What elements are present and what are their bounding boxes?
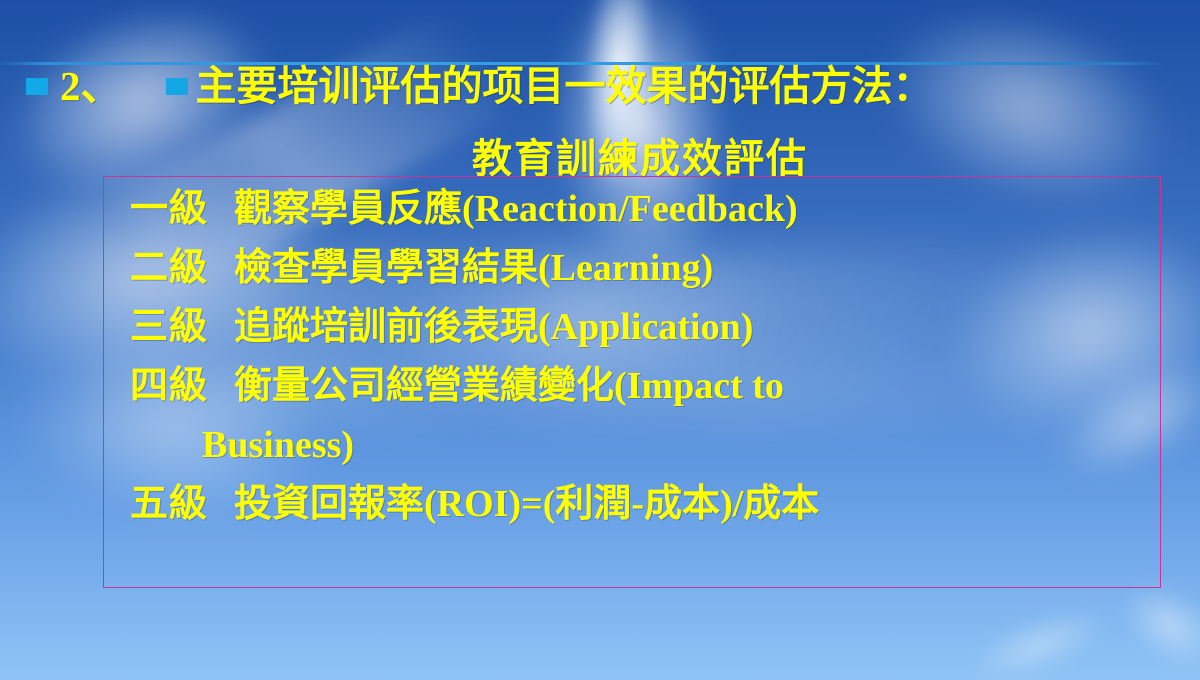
page-title: 2、 主要培训评估的项目一效果的评估方法：: [26, 66, 934, 107]
list-item: 五級投資回報率(ROI)=(利潤-成本)/成本: [130, 475, 1160, 534]
title-heading: 主要培训评估的项目一效果的评估方法：: [196, 66, 934, 107]
square-bullet-icon: [166, 78, 188, 95]
list-item: 一級觀察學員反應(Reaction/Feedback): [130, 180, 1160, 239]
evaluation-level-list: 一級觀察學員反應(Reaction/Feedback) 二級檢查學員學習結果(L…: [130, 180, 1160, 534]
slide-canvas: 2、 主要培训评估的项目一效果的评估方法： 教育訓練成效評估 一級觀察學員反應(…: [0, 0, 1200, 680]
level-description: 追蹤培訓前後表現(Application): [234, 306, 753, 348]
list-item-continuation: Business): [130, 416, 1160, 475]
level-description: 觀察學員反應(Reaction/Feedback): [234, 188, 798, 230]
level-description: 衡量公司經營業績變化(Impact to: [234, 365, 784, 407]
list-item: 三級追蹤培訓前後表現(Application): [130, 298, 1160, 357]
list-item: 二級檢查學員學習結果(Learning): [130, 239, 1160, 298]
list-item: 四級衡量公司經營業績變化(Impact to: [130, 357, 1160, 416]
level-label: 四級: [130, 365, 208, 407]
level-label: 五級: [130, 483, 208, 525]
title-number: 2、: [60, 66, 122, 107]
level-label: 一級: [130, 188, 208, 230]
square-bullet-icon: [26, 78, 48, 95]
level-description: 投資回報率(ROI)=(利潤-成本)/成本: [234, 483, 819, 525]
level-label: 二級: [130, 247, 208, 289]
level-label: 三級: [130, 306, 208, 348]
level-description: 檢查學員學習結果(Learning): [234, 247, 713, 289]
level-description: Business): [202, 424, 354, 466]
